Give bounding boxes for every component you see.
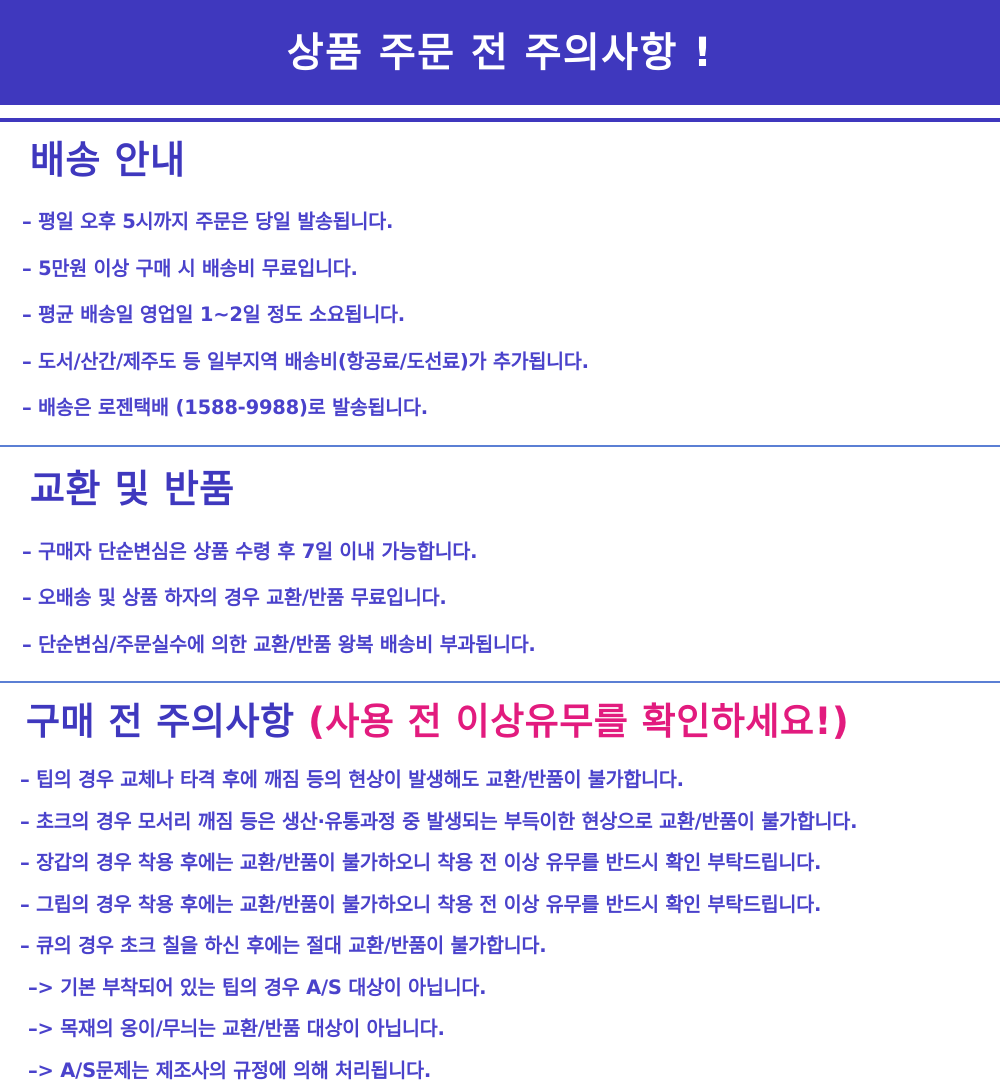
list-item: – 구매자 단순변심은 상품 수령 후 7일 이내 가능합니다. xyxy=(0,542,1000,562)
list-item: – 큐의 경우 초크 칠을 하신 후에는 절대 교환/반품이 불가합니다. xyxy=(0,936,1000,956)
section-heading-delivery: 배송 안내 xyxy=(0,141,1000,179)
page-title: 상품 주문 전 주의사항 ! xyxy=(287,33,713,73)
section-exchange-return: 교환 및 반품 – 구매자 단순변심은 상품 수령 후 7일 이내 가능합니다.… xyxy=(0,470,1000,655)
list-item: – 오배송 및 상품 하자의 경우 교환/반품 무료입니다. xyxy=(0,588,1000,608)
section-delivery: 배송 안내 – 평일 오후 5시까지 주문은 당일 발송됩니다. – 5만원 이… xyxy=(0,141,1000,418)
list-item: –> 기본 부착되어 있는 팁의 경우 A/S 대상이 아닙니다. xyxy=(0,978,1000,998)
list-item: – 그립의 경우 착용 후에는 교환/반품이 불가하오니 착용 전 이상 유무를… xyxy=(0,895,1000,915)
section-divider-1 xyxy=(0,445,1000,447)
return-bullet-list: – 구매자 단순변심은 상품 수령 후 7일 이내 가능합니다. – 오배송 및… xyxy=(0,542,1000,655)
section-divider-wrap-1 xyxy=(0,445,1000,447)
list-item: – 장갑의 경우 착용 후에는 교환/반품이 불가하오니 착용 전 이상 유무를… xyxy=(0,853,1000,873)
list-item: –> A/S문제는 제조사의 규정에 의해 처리됩니다. xyxy=(0,1061,1000,1081)
list-item: – 배송은 로젠택배 (1588-9988)로 발송됩니다. xyxy=(0,398,1000,418)
section-divider-wrap-2 xyxy=(0,681,1000,683)
caution-bullet-list: – 팁의 경우 교체나 타격 후에 깨짐 등의 현상이 발생해도 교환/반품이 … xyxy=(0,770,1000,1080)
list-item: – 도서/산간/제주도 등 일부지역 배송비(항공료/도선료)가 추가됩니다. xyxy=(0,352,1000,372)
section-heading-purchase-caution: 구매 전 주의사항 (사용 전 이상유무를 확인하세요!) xyxy=(0,703,1000,740)
header-rule xyxy=(0,118,1000,122)
notice-page: 상품 주문 전 주의사항 ! 배송 안내 – 평일 오후 5시까지 주문은 당일… xyxy=(0,0,1000,1000)
list-item: – 초크의 경우 모서리 깨짐 등은 생산·유통과정 중 발생되는 부득이한 현… xyxy=(0,812,1000,832)
list-item: – 평균 배송일 영업일 1~2일 정도 소요됩니다. xyxy=(0,305,1000,325)
list-item: – 팁의 경우 교체나 타격 후에 깨짐 등의 현상이 발생해도 교환/반품이 … xyxy=(0,770,1000,790)
section-heading-exchange-return: 교환 및 반품 xyxy=(0,470,1000,508)
section-purchase-caution: 구매 전 주의사항 (사용 전 이상유무를 확인하세요!) – 팁의 경우 교체… xyxy=(0,703,1000,1080)
list-item: – 평일 오후 5시까지 주문은 당일 발송됩니다. xyxy=(0,212,1000,232)
list-item: –> 목재의 옹이/무늬는 교환/반품 대상이 아닙니다. xyxy=(0,1019,1000,1039)
section-heading-main-text: 구매 전 주의사항 xyxy=(26,700,308,743)
delivery-bullet-list: – 평일 오후 5시까지 주문은 당일 발송됩니다. – 5만원 이상 구매 시… xyxy=(0,212,1000,418)
list-item: – 5만원 이상 구매 시 배송비 무료입니다. xyxy=(0,259,1000,279)
list-item: – 단순변심/주문실수에 의한 교환/반품 왕복 배송비 부과됩니다. xyxy=(0,635,1000,655)
section-heading-accent-text: (사용 전 이상유무를 확인하세요!) xyxy=(308,700,849,743)
page-header-banner: 상품 주문 전 주의사항 ! xyxy=(0,0,1000,105)
section-divider-2 xyxy=(0,681,1000,683)
